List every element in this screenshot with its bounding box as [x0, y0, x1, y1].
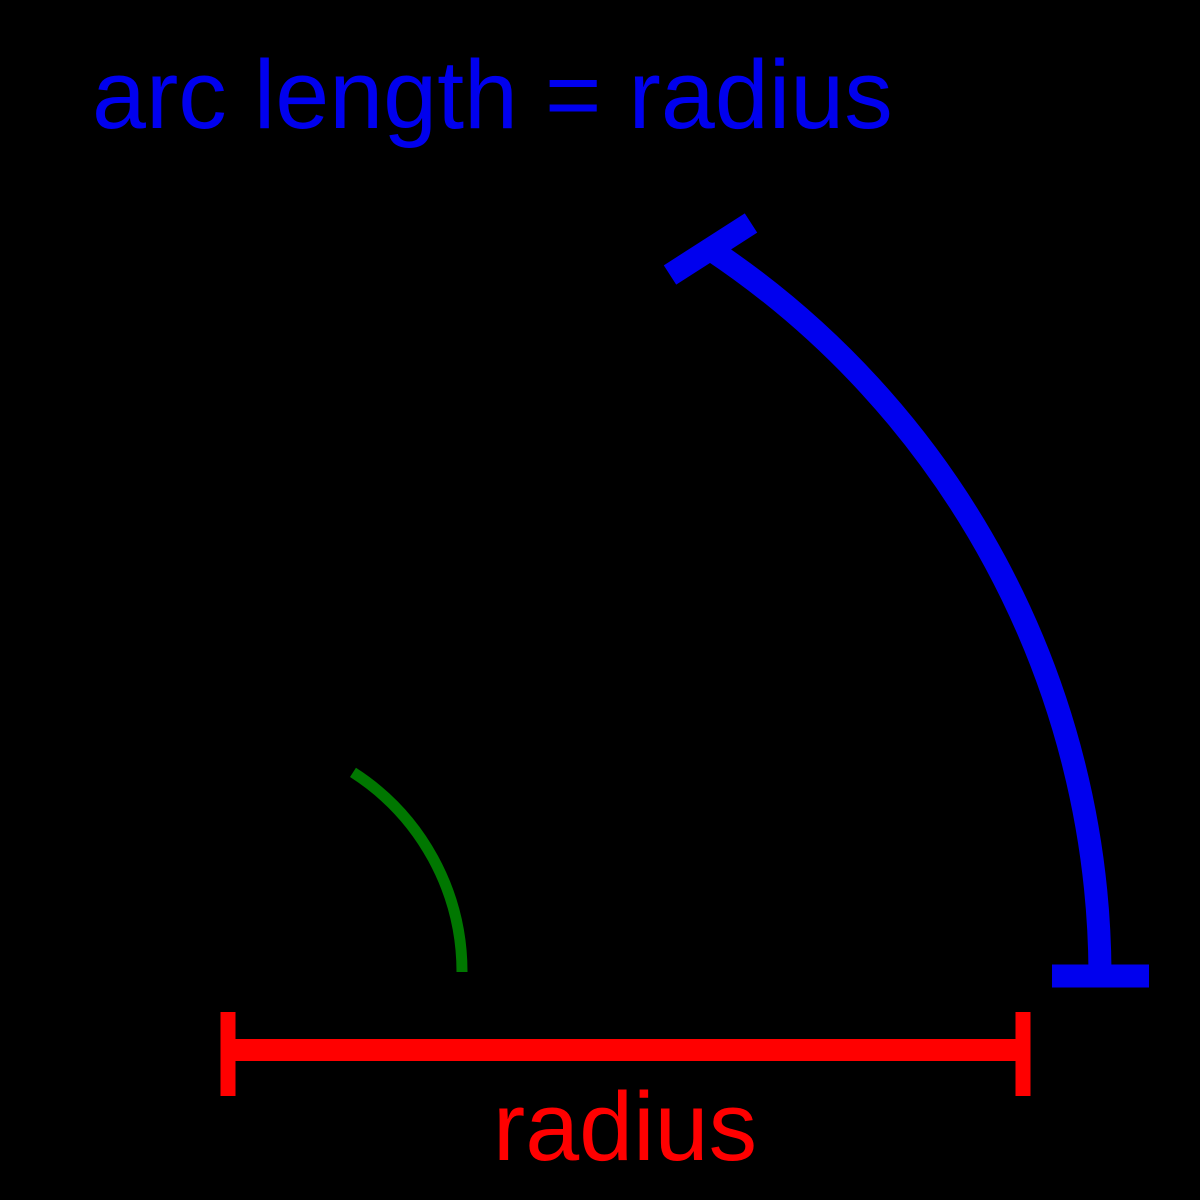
radius-label: radius [493, 1072, 757, 1181]
arc-length-label: arc length = radius [92, 40, 893, 149]
radian-diagram-svg: arc length = radius radius [0, 0, 1200, 1200]
diagram-canvas: arc length = radius radius [0, 0, 1200, 1200]
